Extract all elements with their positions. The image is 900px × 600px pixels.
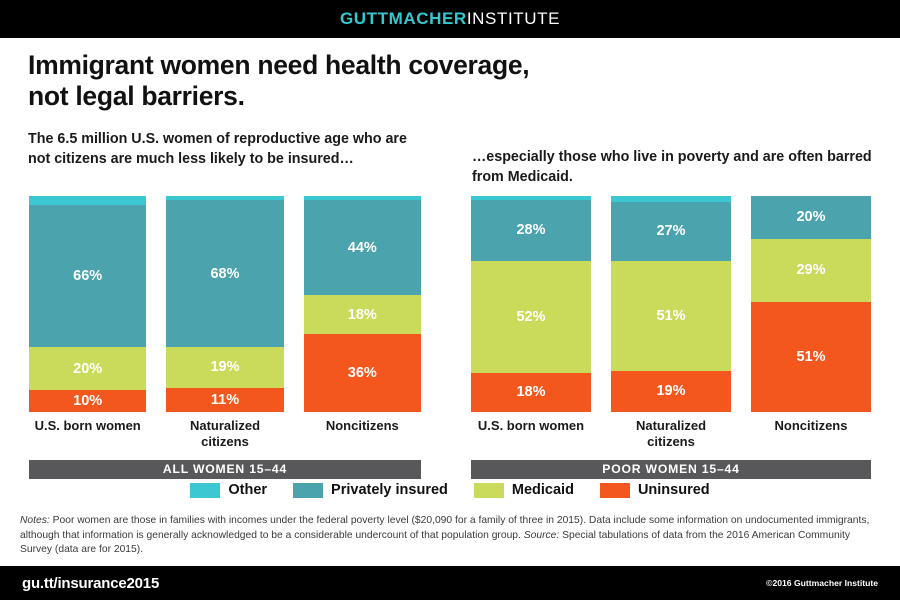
stacked-bar-columns-all-women: 66%20%10%68%19%11%44%18%36% — [29, 196, 421, 412]
headline-line-1: Immigrant women need health coverage, — [28, 50, 529, 80]
headline-line-2: not legal barriers. — [28, 81, 728, 112]
category-label: Naturalized citizens — [166, 418, 283, 450]
source-label: Source: — [524, 530, 560, 541]
stacked-bar-all-women-3: 44%18%36% — [304, 196, 421, 412]
stacked-bar-poor-women-3: 20%29%51% — [751, 196, 871, 412]
category-label: U.S. born women — [471, 418, 591, 450]
bar-segment-unin: 10% — [29, 390, 146, 412]
footer-bar: gu.tt/insurance2015 ©2016 Guttmacher Ins… — [0, 566, 900, 600]
legend-item-unin: Uninsured — [600, 482, 710, 498]
bar-segment-medi: 29% — [751, 239, 871, 302]
stacked-bar-all-women-1: 66%20%10% — [29, 196, 146, 412]
stacked-bar-all-women-2: 68%19%11% — [166, 196, 283, 412]
bar-value-label: 19% — [210, 360, 239, 375]
bar-segment-priv: 28% — [471, 200, 591, 260]
bar-segment-unin: 36% — [304, 334, 421, 412]
brand-name-primary: GUTTMACHER — [340, 9, 467, 28]
brand-header: GUTTMACHERINSTITUTE — [0, 0, 900, 38]
bar-value-label: 27% — [656, 224, 685, 239]
infographic-page: GUTTMACHERINSTITUTE Immigrant women need… — [0, 0, 900, 600]
brand-name-secondary: INSTITUTE — [467, 9, 560, 28]
notes-text: Notes: Poor women are those in families … — [20, 514, 882, 558]
subhead-right: …especially those who live in poverty an… — [472, 148, 872, 187]
legend-item-medi: Medicaid — [474, 482, 574, 498]
legend-swatch-medi — [474, 483, 504, 498]
bar-value-label: 51% — [656, 309, 685, 324]
category-label: Naturalized citizens — [611, 418, 731, 450]
bar-segment-unin: 19% — [611, 371, 731, 412]
category-label: Noncitizens — [304, 418, 421, 450]
legend-item-priv: Privately insured — [293, 482, 448, 498]
group-band-poor-women: POOR WOMEN 15–44 — [471, 460, 871, 479]
bar-value-label: 66% — [73, 269, 102, 284]
legend-label-unin: Uninsured — [638, 482, 710, 498]
page-title: Immigrant women need health coverage, no… — [28, 50, 728, 113]
bar-value-label: 28% — [516, 223, 545, 238]
bar-value-label: 18% — [516, 385, 545, 400]
category-label: U.S. born women — [29, 418, 146, 450]
chart-group-all-women: 66%20%10%68%19%11%44%18%36% U.S. born wo… — [29, 196, 421, 479]
legend-swatch-priv — [293, 483, 323, 498]
footer-short-url[interactable]: gu.tt/insurance2015 — [22, 575, 159, 592]
bar-segment-priv: 27% — [611, 202, 731, 260]
bar-segment-medi: 20% — [29, 347, 146, 390]
bar-segment-priv: 20% — [751, 196, 871, 239]
bar-segment-unin: 51% — [751, 302, 871, 412]
chart-group-poor-women: 28%52%18%27%51%19%20%29%51% U.S. born wo… — [471, 196, 871, 479]
bar-segment-medi: 18% — [304, 295, 421, 334]
bar-value-label: 19% — [656, 384, 685, 399]
notes-label: Notes: — [20, 515, 50, 526]
legend-item-other: Other — [190, 482, 267, 498]
group-band-all-women: ALL WOMEN 15–44 — [29, 460, 421, 479]
subhead-left: The 6.5 million U.S. women of reproducti… — [28, 130, 418, 169]
legend-label-medi: Medicaid — [512, 482, 574, 498]
bar-value-label: 11% — [211, 393, 239, 408]
bar-segment-unin: 11% — [166, 388, 283, 412]
chart-legend: OtherPrivately insuredMedicaidUninsured — [0, 482, 900, 498]
bar-value-label: 18% — [348, 308, 377, 323]
bar-segment-priv: 44% — [304, 200, 421, 295]
bar-value-label: 20% — [796, 210, 825, 225]
category-label: Noncitizens — [751, 418, 871, 450]
bar-value-label: 36% — [348, 366, 377, 381]
legend-label-other: Other — [228, 482, 267, 498]
category-labels-poor-women: U.S. born womenNaturalized citizensNonci… — [471, 418, 871, 450]
legend-swatch-unin — [600, 483, 630, 498]
legend-label-priv: Privately insured — [331, 482, 448, 498]
stacked-bar-poor-women-1: 28%52%18% — [471, 196, 591, 412]
bar-value-label: 29% — [796, 263, 825, 278]
bar-segment-medi: 19% — [166, 347, 283, 388]
guttmacher-logo: GUTTMACHERINSTITUTE — [340, 9, 560, 29]
stacked-bar-poor-women-2: 27%51%19% — [611, 196, 731, 412]
bar-value-label: 10% — [73, 394, 102, 409]
bar-segment-medi: 52% — [471, 261, 591, 373]
category-labels-all-women: U.S. born womenNaturalized citizensNonci… — [29, 418, 421, 450]
bar-segment-unin: 18% — [471, 373, 591, 412]
bar-value-label: 44% — [348, 241, 377, 256]
footer-copyright: ©2016 Guttmacher Institute — [766, 578, 878, 588]
bar-value-label: 52% — [516, 310, 545, 325]
bar-value-label: 68% — [210, 267, 239, 282]
bar-value-label: 51% — [796, 350, 825, 365]
bar-segment-medi: 51% — [611, 261, 731, 371]
legend-swatch-other — [190, 483, 220, 498]
bar-segment-priv: 66% — [29, 205, 146, 348]
bar-segment-priv: 68% — [166, 200, 283, 347]
bar-value-label: 20% — [73, 362, 102, 377]
stacked-bar-columns-poor-women: 28%52%18%27%51%19%20%29%51% — [471, 196, 871, 412]
bar-segment-other — [29, 196, 146, 205]
